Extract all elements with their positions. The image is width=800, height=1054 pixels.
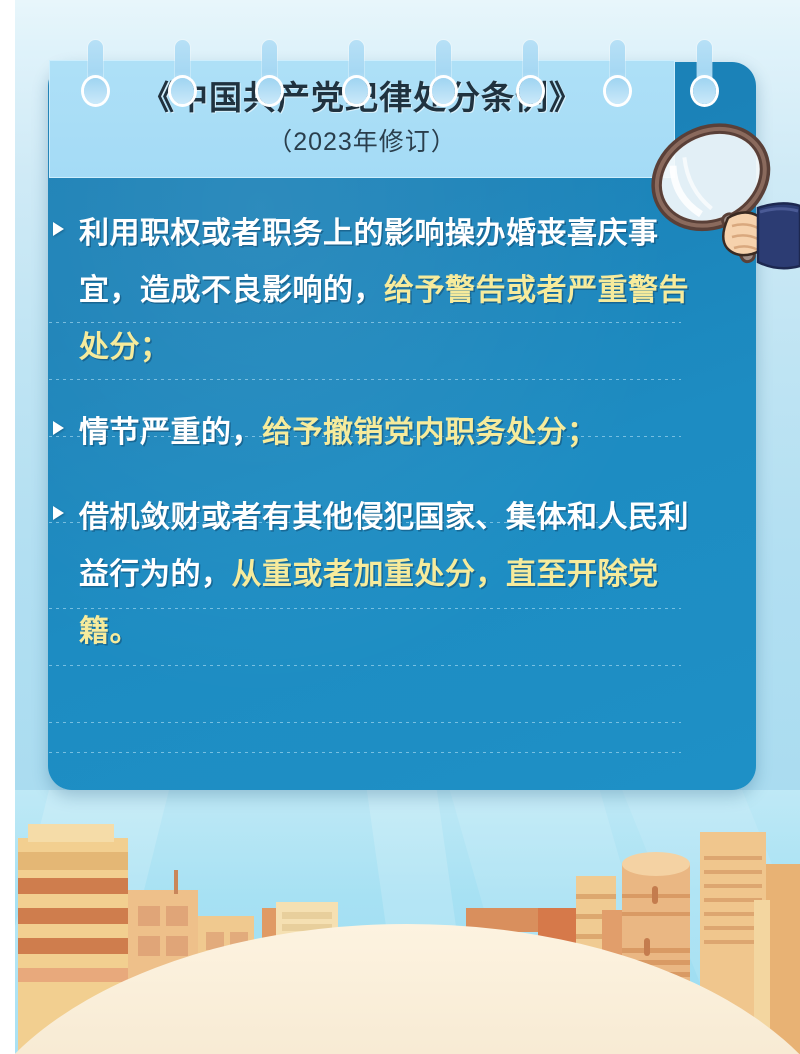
spiral-ring — [697, 40, 712, 98]
dotted-rule — [49, 752, 681, 753]
dotted-rule — [49, 722, 681, 723]
bullet-item: 借机敛财或者有其他侵犯国家、集体和人民利益行为的，从重或者加重处分，直至开除党籍… — [49, 489, 689, 660]
page-subtitle: （2023年修订） — [267, 122, 457, 158]
spiral-ring — [175, 40, 190, 98]
bullet-text: 借机敛财或者有其他侵犯国家、集体和人民利益行为的，从重或者加重处分，直至开除党籍… — [79, 489, 689, 660]
city-scene — [14, 790, 800, 1054]
spiral-ring — [262, 40, 277, 98]
triangle-bullet-icon — [53, 506, 64, 520]
spiral-ring — [88, 40, 103, 98]
magnifying-glass-icon — [640, 100, 800, 270]
poster-root: 《中国共产党纪律处分条例》 （2023年修订） 利用职权或者职务上 — [0, 0, 800, 1054]
highlight-segment: 给予撤销党内职务处分； — [262, 416, 598, 449]
spiral-ring — [436, 40, 451, 98]
bullet-text: 情节严重的，给予撤销党内职务处分； — [79, 404, 689, 461]
bullet-item: 利用职权或者职务上的影响操办婚丧喜庆事宜，造成不良影响的，给予警告或者严重警告处… — [49, 205, 689, 376]
left-margin-strip — [0, 0, 15, 1054]
bullet-list: 利用职权或者职务上的影响操办婚丧喜庆事宜，造成不良影响的，给予警告或者严重警告处… — [49, 205, 689, 688]
bullet-text: 利用职权或者职务上的影响操办婚丧喜庆事宜，造成不良影响的，给予警告或者严重警告处… — [79, 205, 689, 376]
triangle-bullet-icon — [53, 222, 64, 236]
spiral-ring — [610, 40, 625, 98]
text-segment: 情节严重的， — [79, 416, 262, 449]
spiral-ring — [523, 40, 538, 98]
triangle-bullet-icon — [53, 421, 64, 435]
bullet-item: 情节严重的，给予撤销党内职务处分； — [49, 404, 689, 461]
spiral-ring — [349, 40, 364, 98]
